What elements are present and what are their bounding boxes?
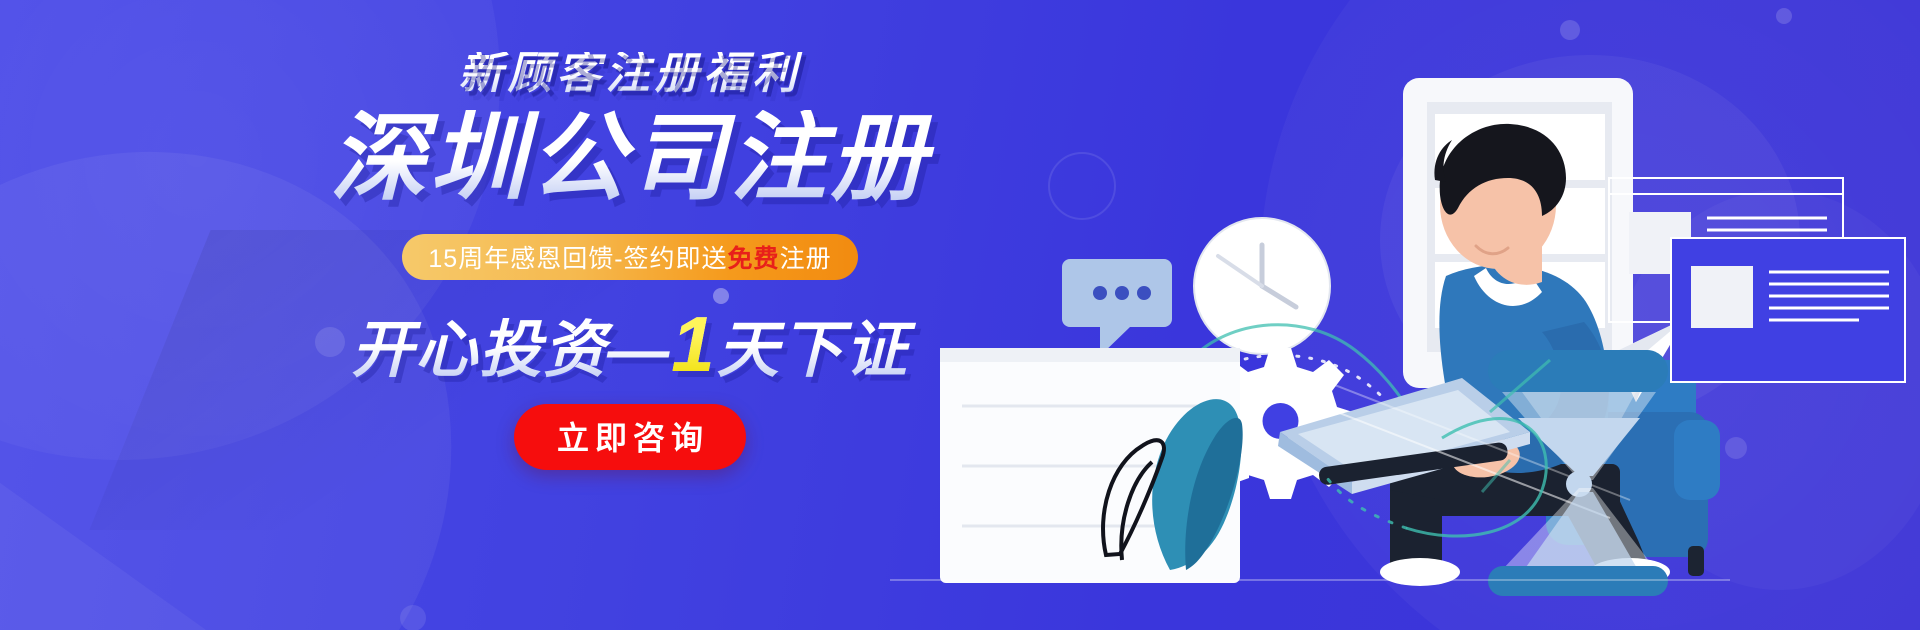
promo-pill-highlight: 免费 (728, 239, 780, 275)
subheadline: 开心投资—1天下证 (300, 304, 960, 386)
promo-pill-suffix: 注册 (780, 239, 832, 275)
consult-now-button[interactable]: 立即咨询 (514, 404, 746, 470)
illustration-scene (1090, 60, 1890, 570)
document-card-front (1671, 238, 1905, 382)
promo-banner: 新顾客注册福利 深圳公司注册 15周年感恩回馈-签约即送免费注册 开心投资—1天… (0, 0, 1920, 630)
decorative-dot (1560, 20, 1580, 40)
subheadline-suffix: 天下证 (717, 316, 909, 385)
promo-pill: 15周年感恩回馈-签约即送免费注册 (402, 234, 857, 280)
subheadline-number: 1 (671, 300, 716, 388)
decorative-dot (1776, 8, 1792, 24)
wall-clock-icon (1194, 218, 1330, 354)
promo-pill-prefix: 15周年感恩回馈-签约即送 (428, 239, 727, 275)
eyebrow-text: 新顾客注册福利 (300, 52, 960, 96)
subheadline-prefix: 开心投资— (351, 316, 671, 385)
banner-copy: 新顾客注册福利 深圳公司注册 15周年感恩回馈-签约即送免费注册 开心投资—1天… (300, 52, 960, 470)
decorative-dot (400, 605, 426, 630)
page-title: 深圳公司注册 (300, 110, 960, 208)
